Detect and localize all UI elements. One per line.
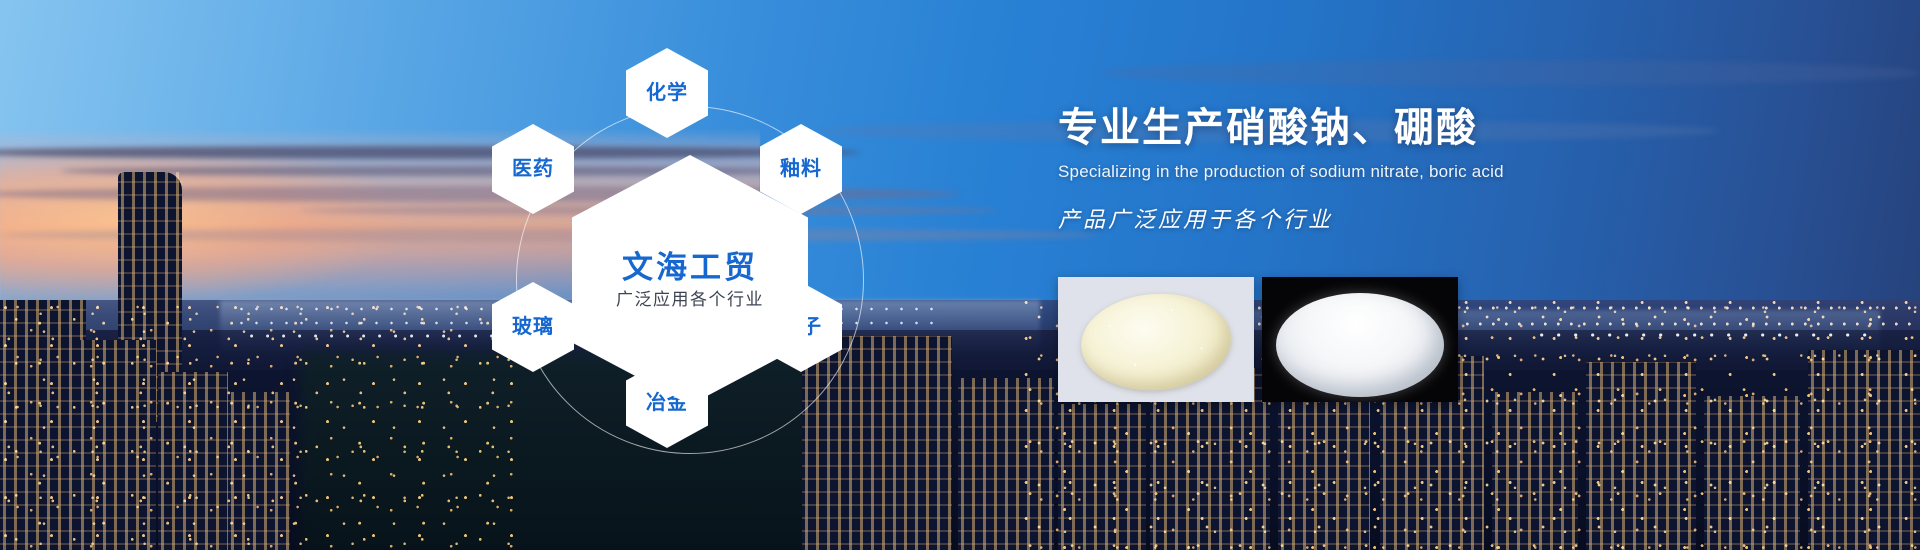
headline-tagline: 产品广泛应用于各个行业 [1058, 202, 1698, 234]
product-photo-group [1058, 277, 1458, 402]
building-silhouette [78, 340, 156, 550]
building-silhouette [1492, 392, 1578, 550]
building-silhouette [958, 378, 1054, 550]
hex-pharmaceutical-label: 医药 [512, 159, 554, 179]
headline-english: Specializing in the production of sodium… [1058, 162, 1698, 182]
building-silhouette [1704, 396, 1800, 550]
building-silhouette [0, 300, 86, 550]
hex-glaze-label: 釉料 [780, 159, 822, 179]
headline-chinese: 专业生产硝酸钠、硼酸 [1058, 104, 1698, 152]
building-silhouette [1808, 350, 1920, 550]
powder-heap-cream [1078, 289, 1234, 395]
background-cityscape [0, 0, 1920, 550]
building-silhouette [1058, 404, 1146, 550]
promo-banner: 化学 釉料 电子 冶金 玻璃 医药 文海工贸 广泛应用各个行业 专业生产硝酸钠、… [0, 0, 1920, 550]
powder-heap-white [1276, 293, 1444, 397]
building-silhouette [1586, 362, 1696, 550]
building-silhouette [1278, 398, 1370, 550]
powder-specks [1078, 289, 1234, 395]
cloud-streak [1100, 60, 1920, 86]
company-name: 文海工贸 [622, 251, 758, 285]
hex-chemistry-label: 化学 [646, 83, 688, 103]
hex-glass-label: 玻璃 [512, 317, 554, 337]
building-silhouette [228, 392, 290, 550]
industry-hexagon-diagram: 化学 釉料 电子 冶金 玻璃 医药 文海工贸 广泛应用各个行业 [430, 20, 950, 540]
company-tagline: 广泛应用各个行业 [616, 291, 764, 310]
building-silhouette [158, 372, 228, 550]
product-photo-boric-acid[interactable] [1262, 277, 1458, 402]
headline-block: 专业生产硝酸钠、硼酸 Specializing in the productio… [1058, 104, 1698, 234]
product-photo-sodium-nitrate[interactable] [1058, 277, 1254, 402]
